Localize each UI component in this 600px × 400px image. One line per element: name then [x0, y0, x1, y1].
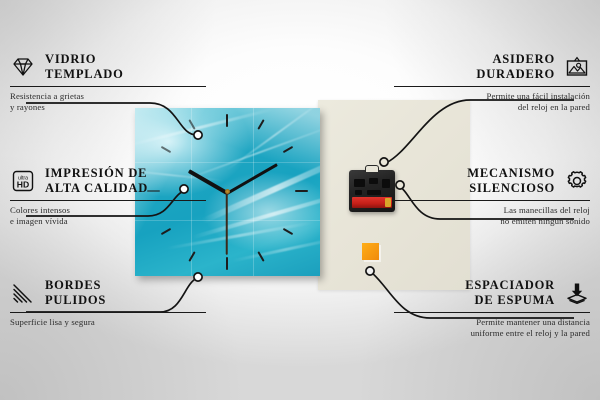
divider [10, 312, 206, 313]
polished-edge-icon [10, 281, 36, 305]
clock-movement [349, 170, 395, 212]
battery-terminal [385, 198, 391, 207]
feature-header: ASIDERO DURADERO [394, 52, 590, 83]
svg-text:HD: HD [17, 180, 29, 190]
feature-description: Resistencia a grietas y rayones [10, 91, 206, 114]
feature-mecanismo-silencioso[interactable]: MECANISMO SILENCIOSO Las manecillas del … [394, 166, 590, 228]
feature-description: Colores intensos e imagen vívida [10, 205, 206, 228]
divider [394, 86, 590, 87]
diamond-icon [10, 55, 36, 79]
feature-description: Superficie lisa y segura [10, 317, 206, 328]
feature-header: VIDRIO TEMPLADO [10, 52, 206, 83]
feature-description: Permite mantener una distancia uniforme … [394, 317, 590, 340]
feature-header: ESPACIADOR DE ESPUMA [394, 278, 590, 309]
feature-title: MECANISMO SILENCIOSO [467, 166, 555, 197]
divider [10, 86, 206, 87]
feature-description: Permite una fácil instalación del reloj … [394, 91, 590, 114]
gear-icon [564, 169, 590, 193]
foam-spacer-piece [362, 243, 379, 260]
feature-title: ESPACIADOR DE ESPUMA [465, 278, 555, 309]
ultra-hd-icon: ultra HD [10, 169, 36, 193]
movement-battery [352, 197, 392, 208]
clock-hub [225, 189, 230, 194]
divider [394, 200, 590, 201]
feature-title: IMPRESIÓN DE ALTA CALIDAD [45, 166, 148, 197]
feature-header: ultra HD IMPRESIÓN DE ALTA CALIDAD [10, 166, 206, 197]
divider [10, 200, 206, 201]
feature-asidero-duradero[interactable]: ASIDERO DURADERO Permite una fácil insta… [394, 52, 590, 114]
feature-header: BORDES PULIDOS [10, 278, 206, 309]
feature-header: MECANISMO SILENCIOSO [394, 166, 590, 197]
feature-vidrio-templado[interactable]: VIDRIO TEMPLADO Resistencia a grietas y … [10, 52, 206, 114]
infographic-canvas: VIDRIO TEMPLADO Resistencia a grietas y … [0, 0, 600, 400]
picture-hanger-icon [564, 55, 590, 79]
divider [394, 312, 590, 313]
feature-title: ASIDERO DURADERO [476, 52, 555, 83]
feature-description: Las manecillas del reloj no emiten ningú… [394, 205, 590, 228]
press-down-layer-icon [564, 281, 590, 305]
feature-espaciador-de-espuma[interactable]: ESPACIADOR DE ESPUMA Permite mantener un… [394, 278, 590, 340]
feature-title: VIDRIO TEMPLADO [45, 52, 124, 83]
second-hand [226, 193, 228, 255]
movement-hanger [365, 165, 379, 172]
feature-title: BORDES PULIDOS [45, 278, 106, 309]
feature-bordes-pulidos[interactable]: BORDES PULIDOS Superficie lisa y segura [10, 278, 206, 328]
feature-impresion-alta-calidad[interactable]: ultra HD IMPRESIÓN DE ALTA CALIDAD Color… [10, 166, 206, 228]
